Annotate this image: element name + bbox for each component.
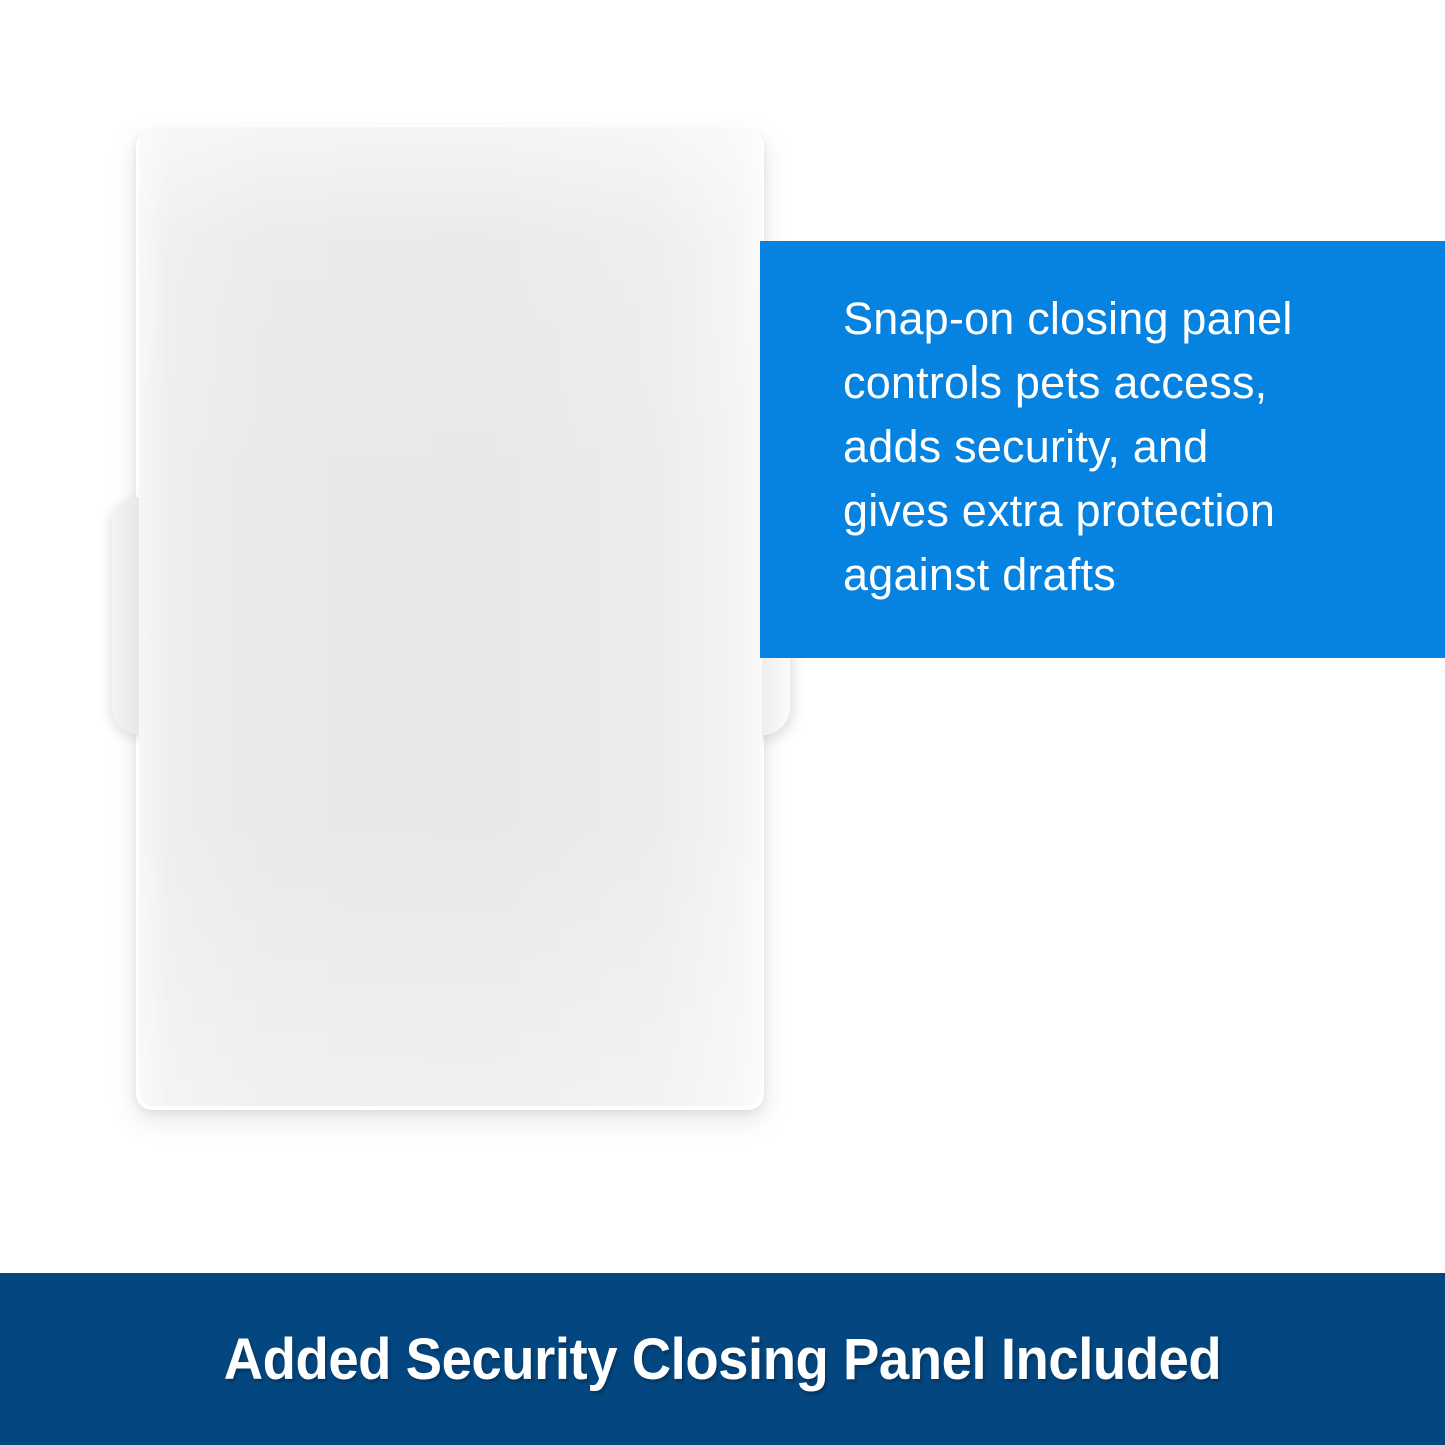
- callout-line-4: gives extra protection: [843, 479, 1403, 543]
- feature-callout-block: Snap-on closing panel controls pets acce…: [760, 241, 1445, 658]
- callout-line-2: controls pets access,: [843, 351, 1403, 415]
- product-feature-image: Snap-on closing panel controls pets acce…: [0, 0, 1445, 1445]
- closing-panel-face: [139, 126, 762, 1106]
- callout-line-5: against drafts: [843, 543, 1403, 607]
- bottom-banner-title: Added Security Closing Panel Included: [43, 1273, 1401, 1445]
- callout-line-1: Snap-on closing panel: [843, 287, 1403, 351]
- feature-callout-text: Snap-on closing panel controls pets acce…: [843, 287, 1403, 607]
- callout-line-3: adds security, and: [843, 415, 1403, 479]
- bottom-banner: Added Security Closing Panel Included: [0, 1273, 1445, 1445]
